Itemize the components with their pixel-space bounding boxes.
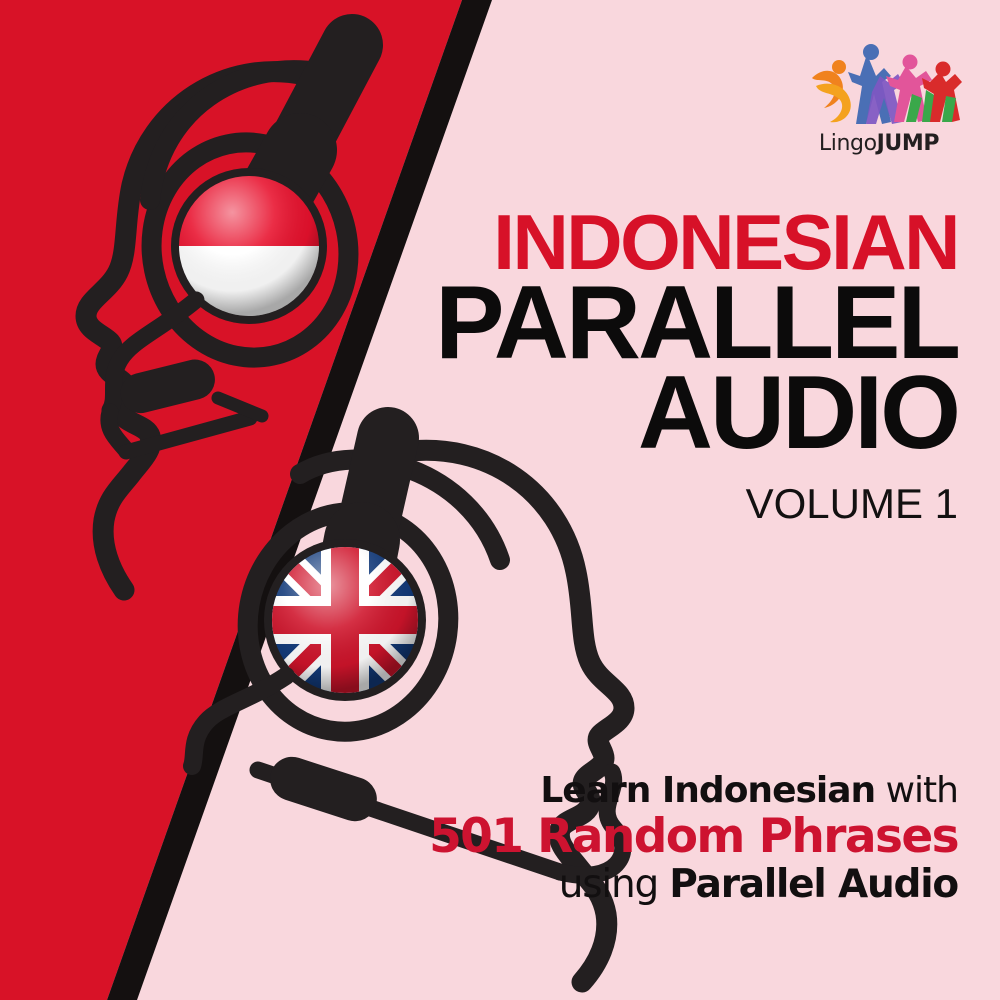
title-block: INDONESIAN PARALLEL AUDIO VOLUME 1 — [278, 206, 958, 528]
subtitle-using: using — [559, 862, 670, 907]
logo-wordmark: LingoJUMP — [794, 133, 964, 155]
subtitle-with: with — [875, 770, 958, 811]
jumping-people-icon — [794, 36, 964, 131]
audiobook-cover: LingoJUMP INDONESIAN PARALLEL AUDIO VOLU… — [0, 0, 1000, 1000]
subtitle-parallel-audio: Parallel Audio — [669, 862, 958, 907]
subtitle-line-1: Learn Indonesian with — [258, 772, 958, 810]
cable-upper — [192, 676, 286, 766]
earcup-gloss — [272, 547, 418, 693]
subtitle-learn-language: Learn Indonesian — [540, 770, 875, 811]
volume-label: VOLUME 1 — [278, 480, 958, 528]
subtitle-phrase-count: 501 Random Phrases — [258, 812, 958, 862]
lingojump-logo[interactable]: LingoJUMP — [794, 36, 964, 155]
cable-lower — [218, 398, 262, 416]
logo-word-jump: JUMP — [877, 131, 939, 156]
inline-remote — [116, 355, 219, 417]
logo-word-lingo: Lingo — [819, 131, 877, 156]
subtitle-line-3: using Parallel Audio — [258, 864, 958, 905]
subtitle-block: Learn Indonesian with 501 Random Phrases… — [258, 772, 958, 905]
